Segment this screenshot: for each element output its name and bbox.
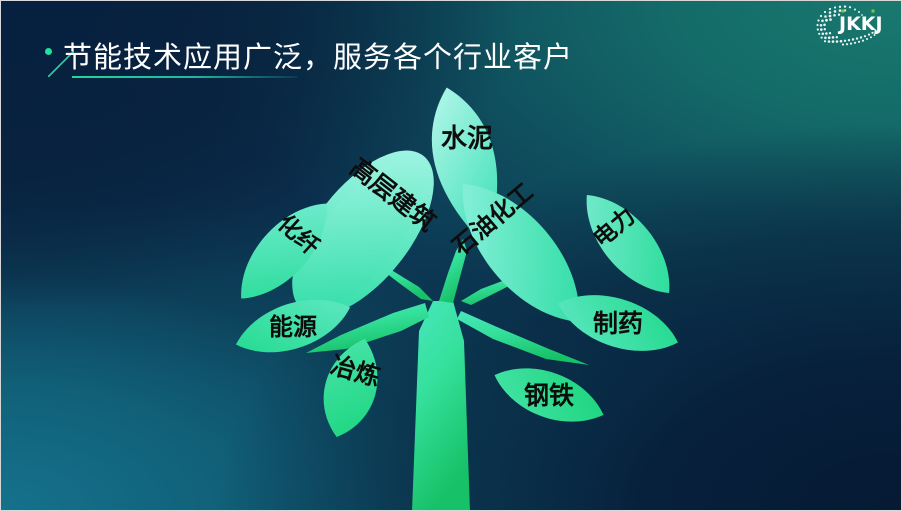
jkkj-logo[interactable]: JKKJ [813, 3, 887, 49]
leaf-label-cement: 水泥 [441, 124, 493, 154]
page-title: 节能技术应用广泛，服务各个行业客户 [63, 39, 573, 75]
title-underline [72, 76, 297, 78]
leaf-steel[interactable]: 钢铁 [487, 354, 611, 436]
leaf-label-energy: 能源 [269, 313, 317, 341]
leaf-label-pharma: 制药 [593, 309, 643, 338]
leaf-label-steel: 钢铁 [524, 381, 574, 410]
logo-wordmark: JKKJ [837, 10, 883, 36]
slide-canvas: 水泥 高层建筑 石油化工 化纤 电力 [0, 0, 902, 511]
svg-text:JKKJ: JKKJ [837, 13, 883, 35]
leaf-electric-power[interactable]: 电力 [568, 180, 687, 309]
slide-header: 节能技术应用广泛，服务各个行业客户 [45, 39, 685, 95]
